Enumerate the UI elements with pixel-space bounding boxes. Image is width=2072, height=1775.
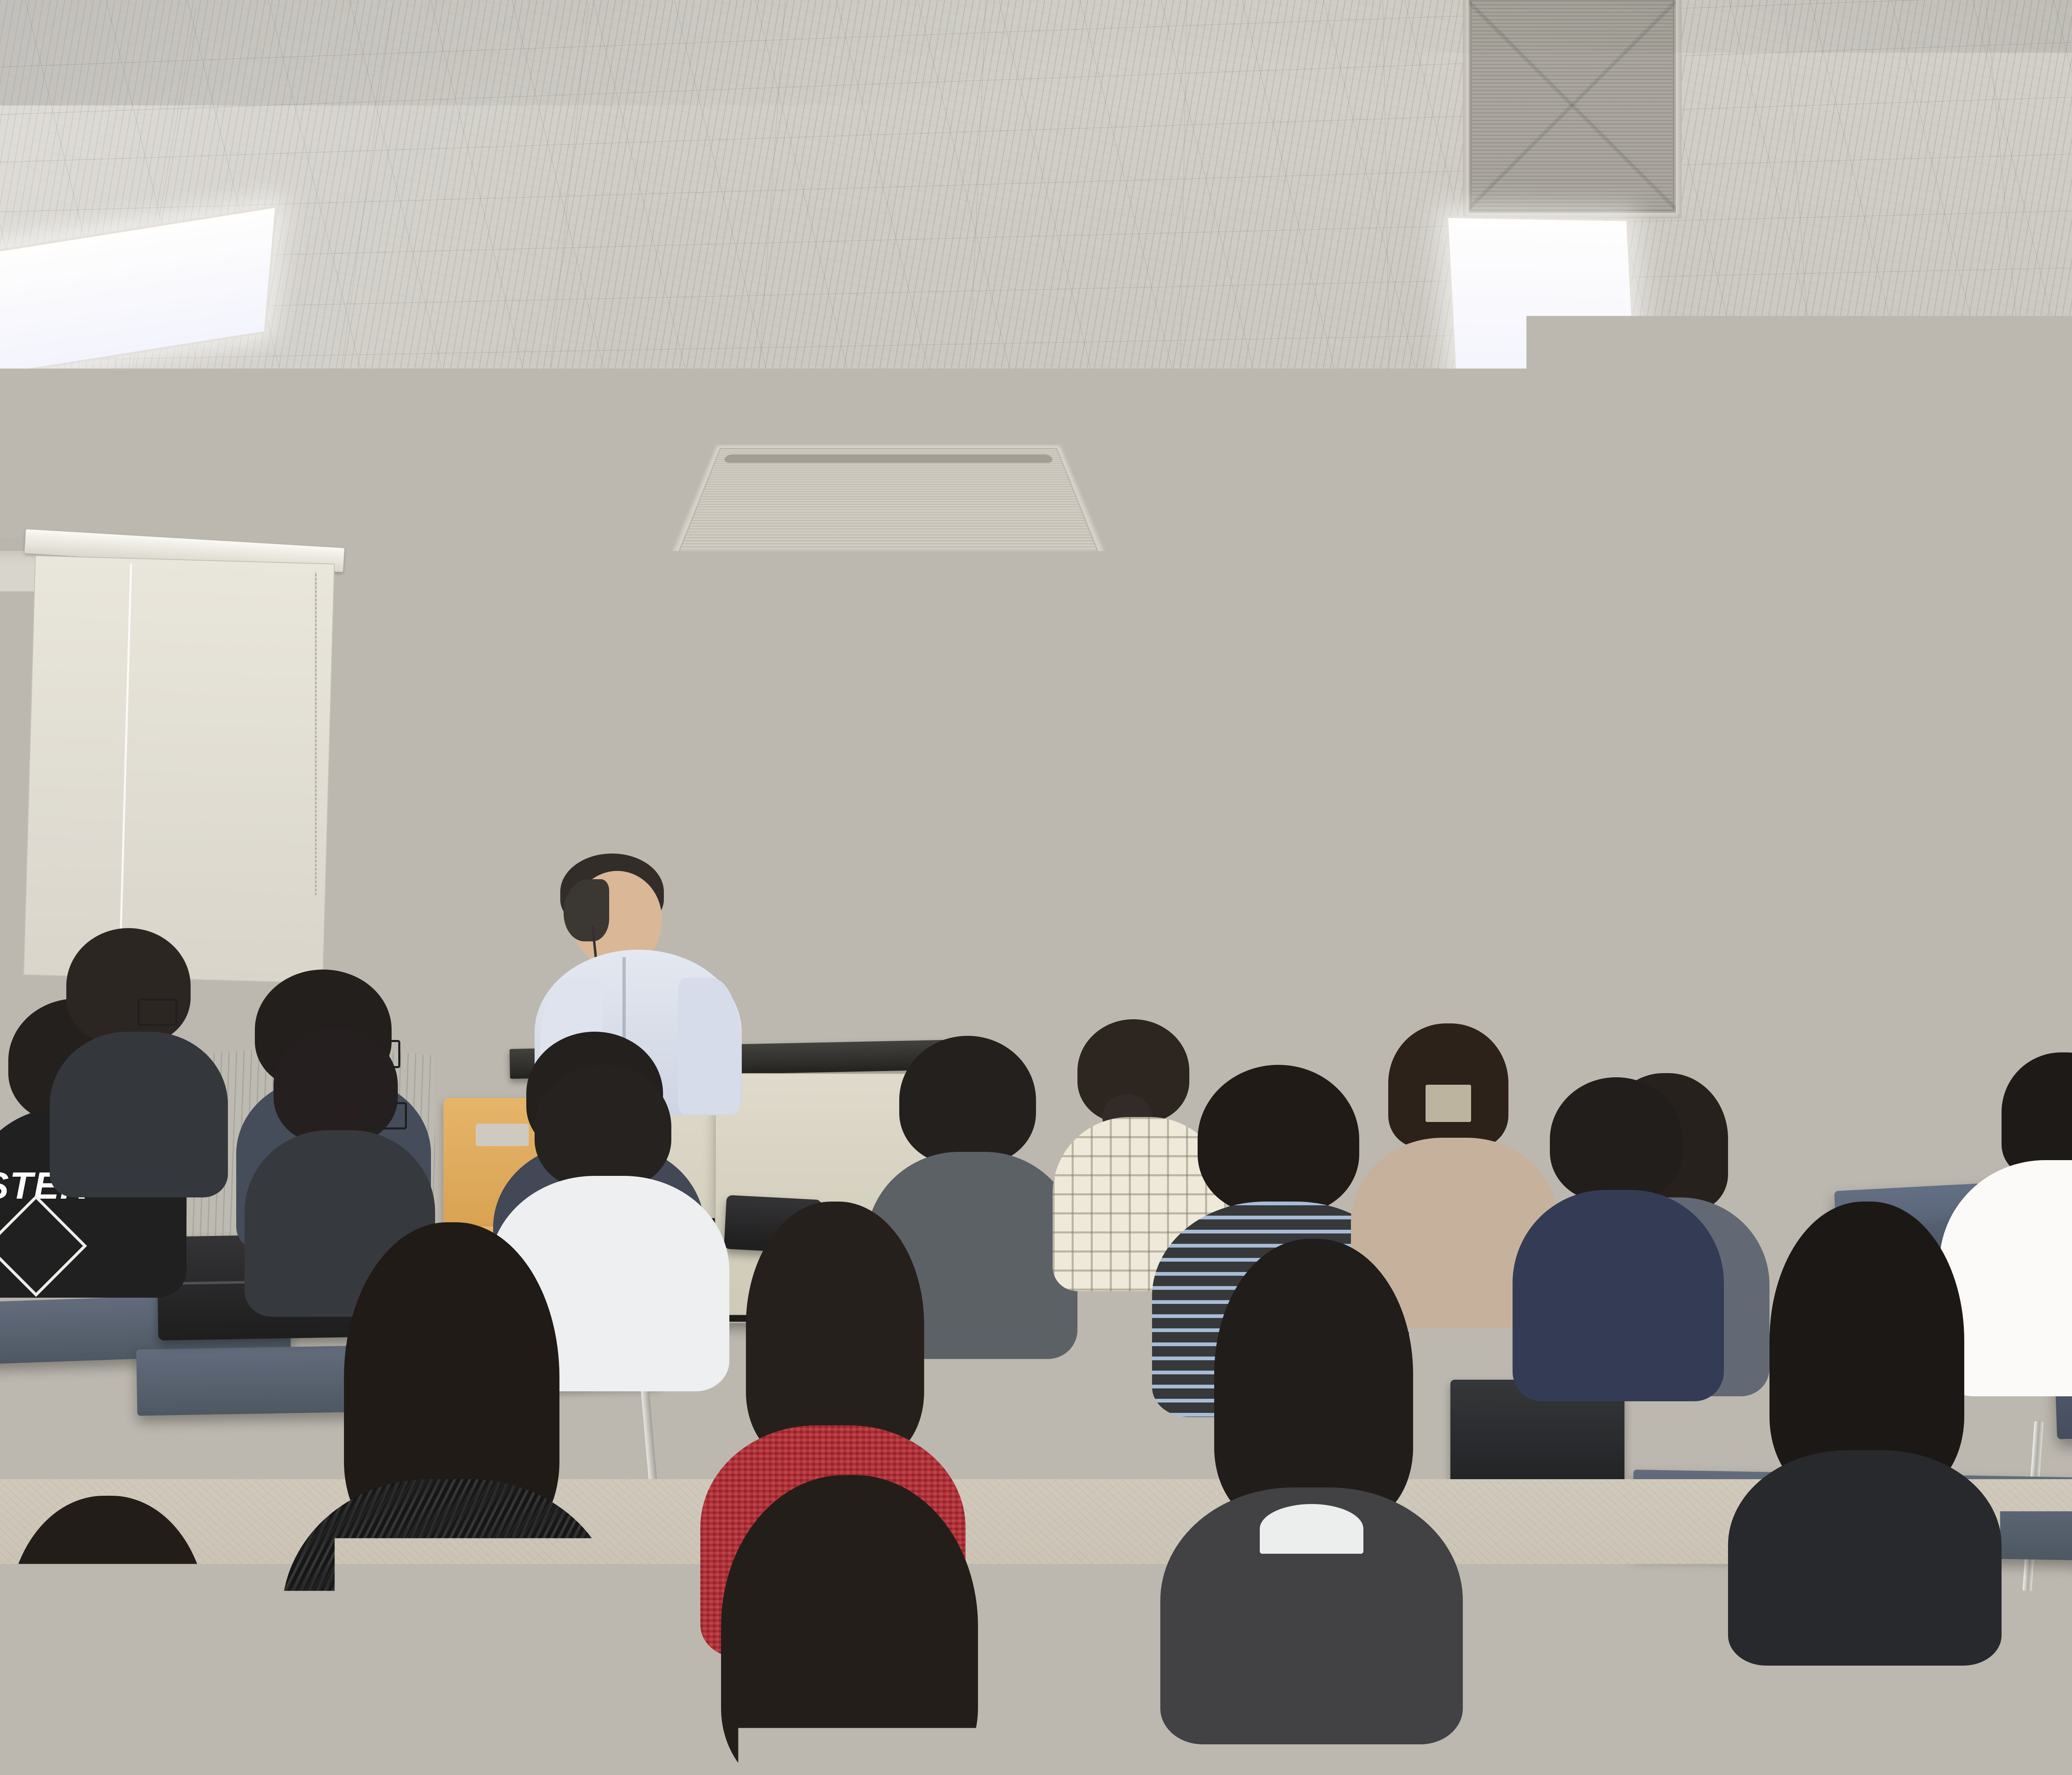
event-banner: 용 인 대 학 교 U 1 U N I V E R S I T Y 취·창업지원… — [752, 582, 2072, 789]
wall-trim-rail-right — [2031, 945, 2072, 951]
audience-member — [1164, 1239, 1455, 1736]
wall-speaker-left — [416, 597, 510, 704]
hair-clip — [1426, 1085, 1471, 1122]
audience-member — [659, 1475, 1032, 1775]
audience-member — [0, 1496, 249, 1775]
wall-control-box[interactable] — [493, 912, 541, 974]
banner-speaker: 강 사: 황 병 용 — [1333, 716, 1560, 762]
smoke-detector-icon — [1384, 476, 1419, 511]
roller-blind[interactable] — [23, 555, 335, 984]
audience-member — [1587, 1545, 1952, 1775]
audience-member — [282, 1222, 613, 1775]
ceiling-air-vent-top — [1463, 0, 1682, 219]
ceiling — [0, 0, 2072, 551]
lecture-hall-photo: 용 인 대 학 교 U 1 U N I V E R S I T Y 취·창업지원… — [0, 0, 2072, 1775]
u1-university-logo: 용 인 대 학 교 U 1 U N I V E R S I T Y — [787, 608, 916, 736]
blind-pull-chain[interactable] — [315, 572, 317, 895]
pt-department-logo: P T U 1 U N I V E R S I T Y P H Y S I C — [1970, 611, 2072, 740]
u1-logo-ring-text: 용 인 대 학 교 U 1 U N I V E R S I T Y — [789, 610, 914, 734]
audience-member — [50, 928, 224, 1185]
banner-left-logo-caption: 취·창업지원센터 — [784, 742, 931, 778]
ceiling-light-2 — [1446, 216, 1637, 389]
audience-member — [1517, 1077, 1711, 1392]
